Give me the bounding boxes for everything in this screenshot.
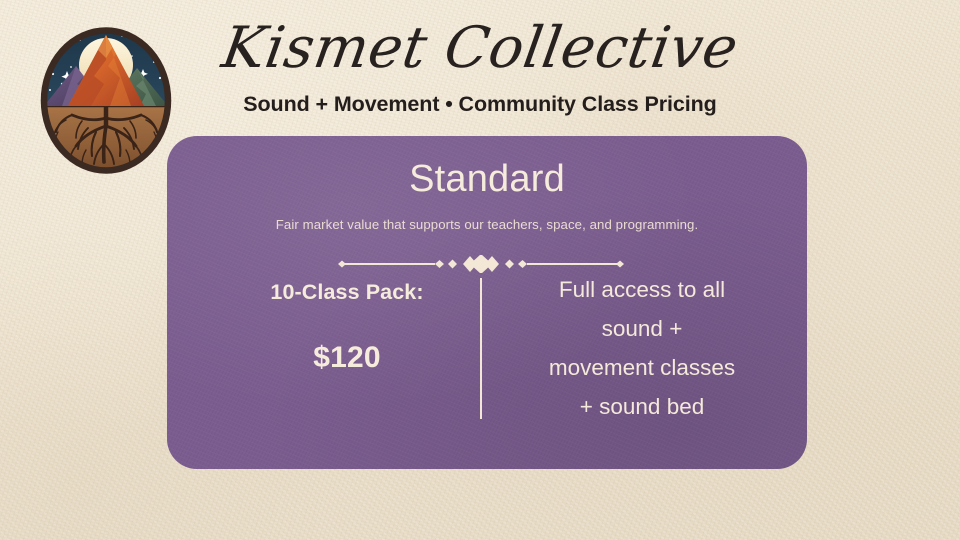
pricing-card-content: Standard Fair market value that supports… xyxy=(167,136,807,469)
pack-label: 10-Class Pack: xyxy=(227,280,467,305)
benefit-line: sound + xyxy=(497,309,787,348)
benefit-line: + sound bed xyxy=(497,387,787,426)
column-divider xyxy=(480,278,482,419)
pricing-card: Standard Fair market value that supports… xyxy=(167,136,807,469)
plan-description: Fair market value that supports our teac… xyxy=(167,217,807,232)
brand-title: Kismet Collective xyxy=(0,17,960,81)
benefit-line: Full access to all xyxy=(497,270,787,309)
benefit-line: movement classes xyxy=(497,348,787,387)
pack-price: $120 xyxy=(227,341,467,375)
slide-canvas: Kismet Collective Sound + Movement • Com… xyxy=(0,0,960,540)
plan-title: Standard xyxy=(167,158,807,201)
benefits-column: Full access to all sound + movement clas… xyxy=(497,270,787,426)
brand-tagline: Sound + Movement • Community Class Prici… xyxy=(0,92,960,117)
price-column: 10-Class Pack: $120 xyxy=(227,280,467,375)
